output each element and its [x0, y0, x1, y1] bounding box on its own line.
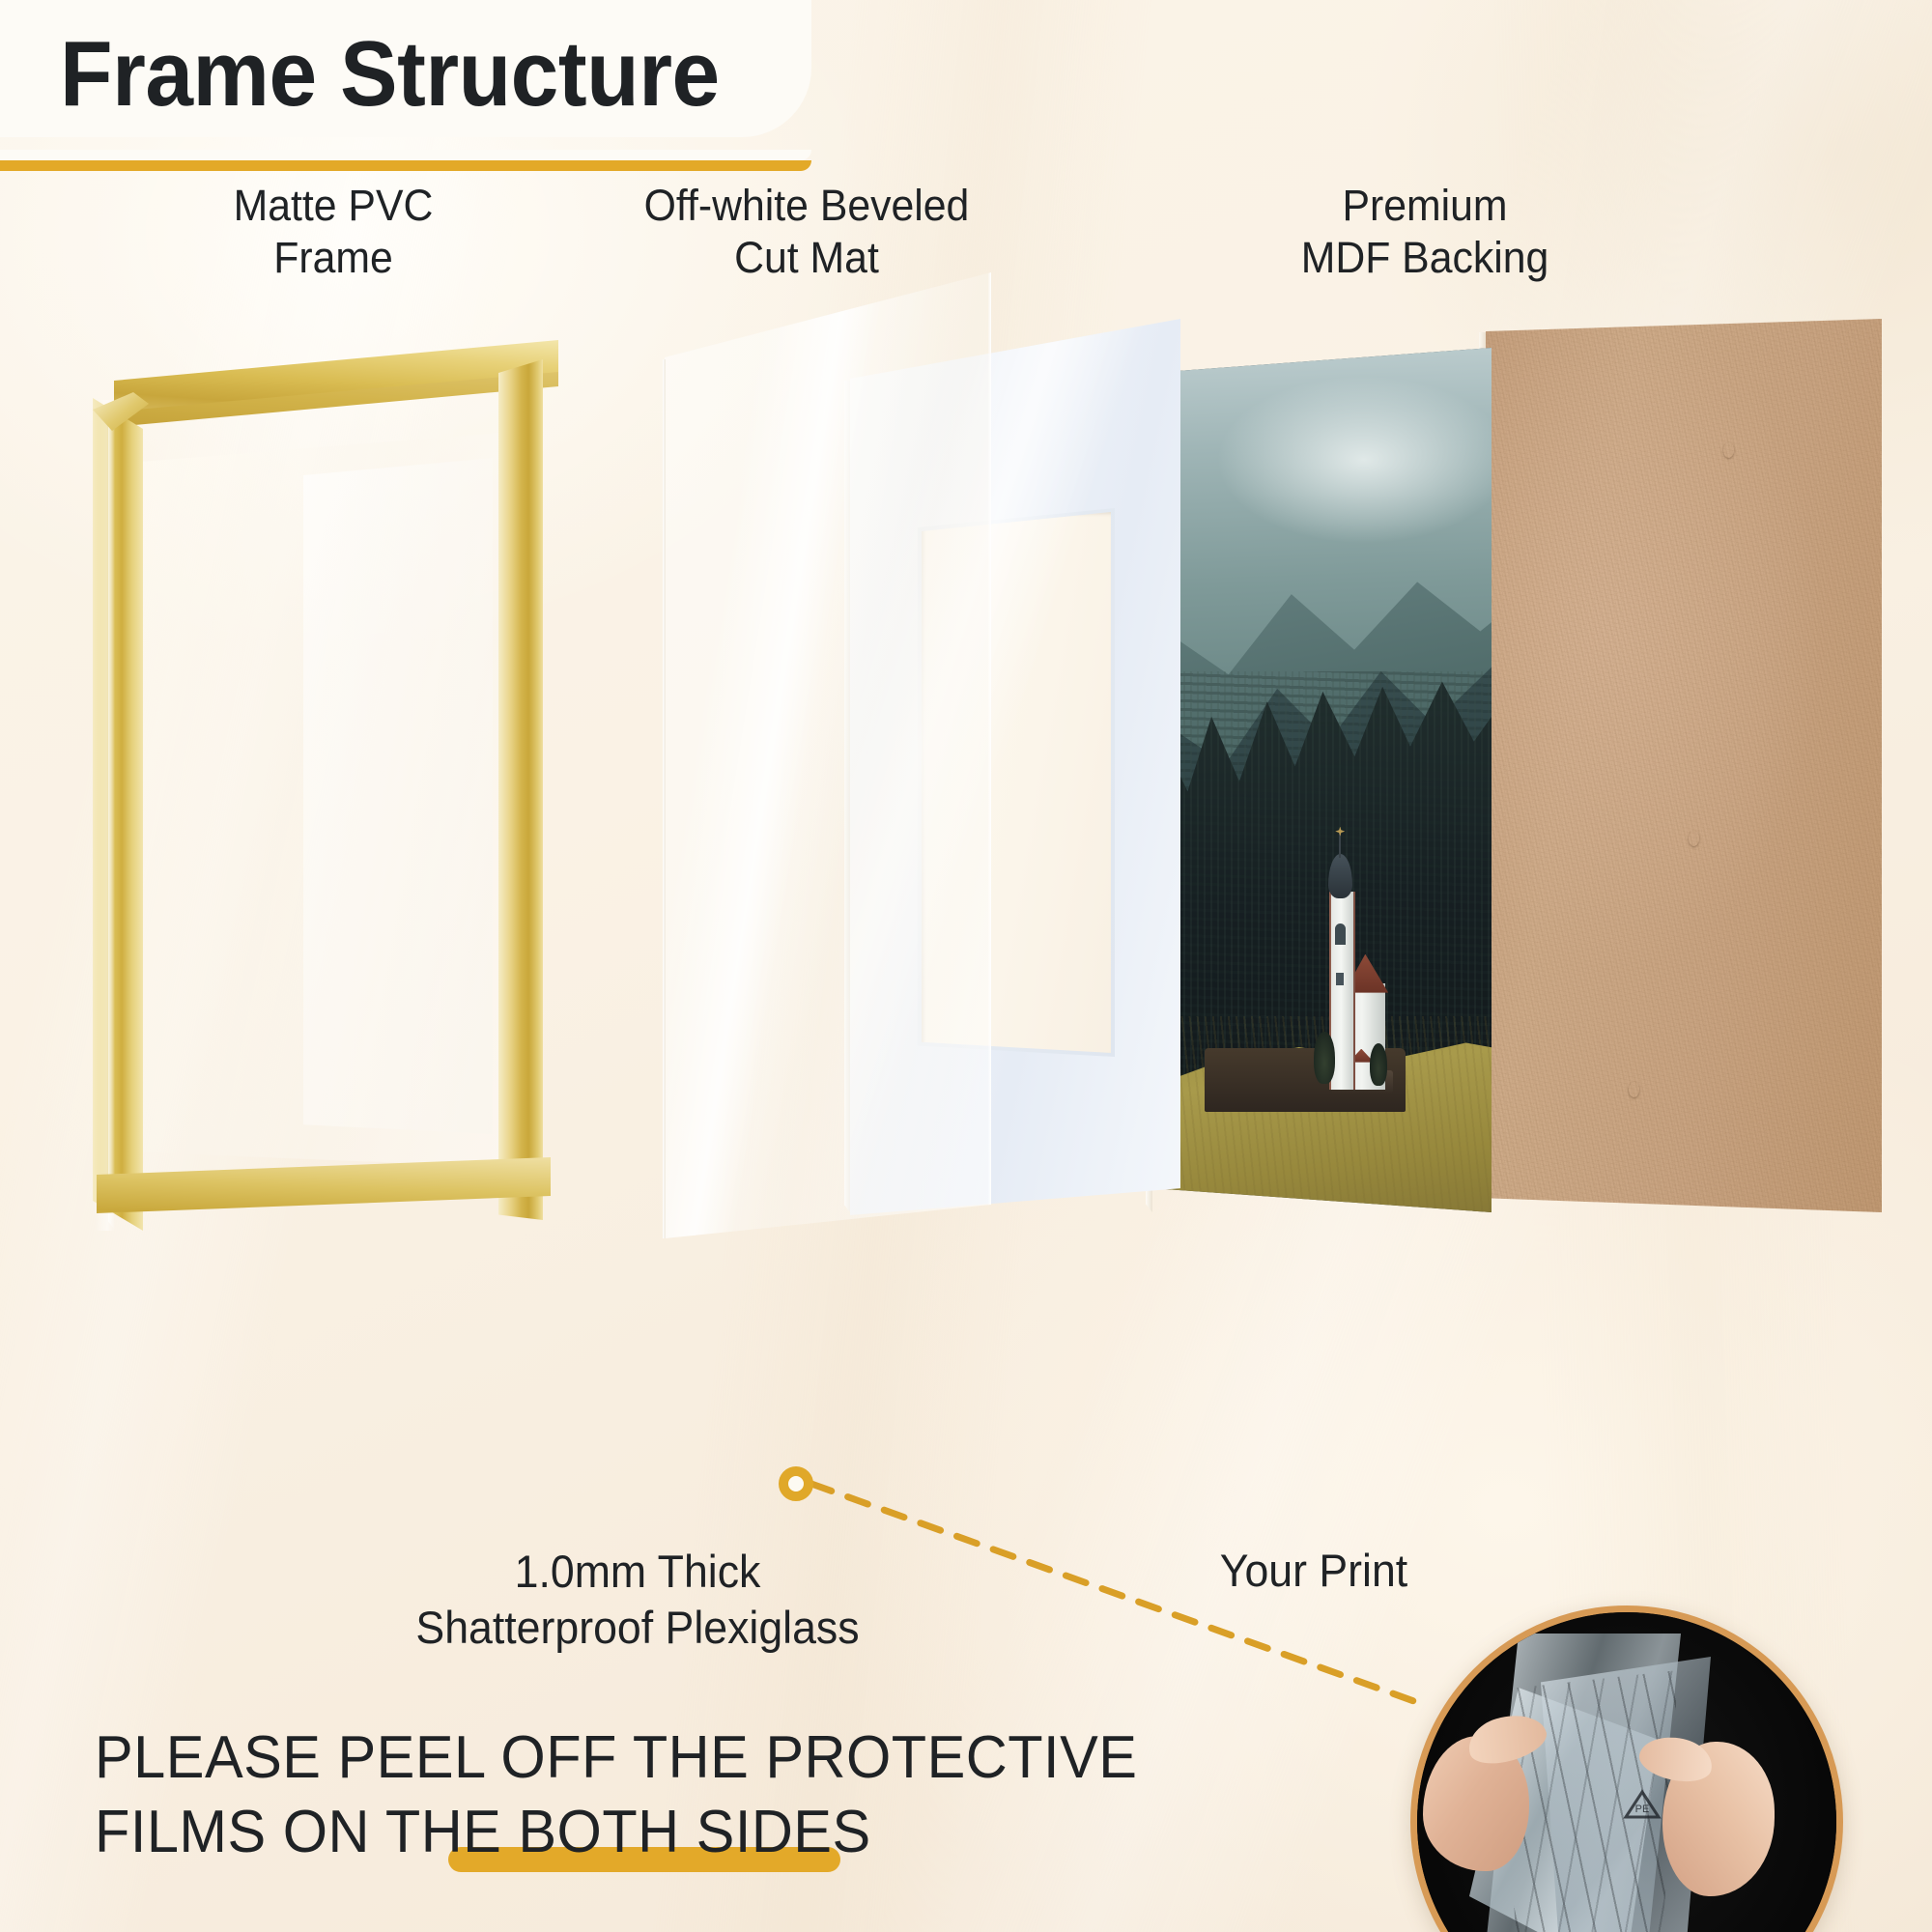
callout-marker-icon	[779, 1466, 813, 1501]
church-finial-icon	[1335, 827, 1345, 837]
label-cut-mat: Off-white Beveled Cut Mat	[578, 180, 1037, 284]
backing-hardware-clip	[1689, 831, 1699, 846]
scene-shrub	[1314, 1032, 1335, 1084]
warning-line-1: PLEASE PEEL OFF THE PROTECTIVE	[95, 1724, 1137, 1791]
label-mdf-backing: Premium MDF Backing	[1168, 180, 1682, 284]
gold-frame-profile	[114, 340, 558, 1209]
label-line-2: Cut Mat	[578, 232, 1037, 284]
plexiglass-panel	[665, 272, 991, 1238]
church-belfry-opening	[1335, 923, 1346, 945]
church-onion-dome	[1328, 854, 1352, 898]
infographic-canvas: Frame Structure Matte PVC Frame Off-whit…	[0, 0, 1932, 1932]
svg-text:PE: PE	[1635, 1804, 1650, 1815]
frame-bottom-rail	[97, 1157, 551, 1236]
scene-shrub	[1370, 1043, 1387, 1086]
plexiglass-left-edge	[663, 359, 666, 1238]
page-title: Frame Structure	[60, 21, 720, 128]
label-line-2: MDF Backing	[1168, 232, 1682, 284]
frame-left-highlight	[108, 404, 115, 1230]
frame-right-rail	[498, 336, 543, 1220]
label-line-1: Premium	[1168, 180, 1682, 232]
warning-text: PLEASE PEEL OFF THE PROTECTIVE FILMS ON …	[95, 1721, 1300, 1870]
backing-hardware-clip	[1629, 1082, 1639, 1097]
mdf-backing-panel	[1486, 319, 1882, 1212]
plexiglass-right-edge	[988, 272, 991, 1238]
peel-film-inset-photo: PE	[1410, 1605, 1843, 1932]
label-line-1: Matte PVC	[127, 180, 540, 232]
scene-mist	[1151, 363, 1492, 617]
print-photo-panel	[1151, 348, 1492, 1212]
title-accent-rule	[0, 160, 811, 171]
frame-left-sheen	[95, 400, 143, 1231]
callout-leader-line	[808, 1478, 1426, 1710]
mdf-grain-texture	[1486, 319, 1882, 1212]
recycle-triangle-icon: PE	[1622, 1788, 1662, 1821]
print-scene	[1151, 348, 1492, 1212]
label-line-1: Off-white Beveled	[578, 180, 1037, 232]
plexiglass-gloss	[665, 272, 991, 1238]
label-line-2: Frame	[127, 232, 540, 284]
frame-glass-reflection	[303, 458, 493, 1134]
label-matte-pvc-frame: Matte PVC Frame	[127, 180, 540, 284]
backing-hardware-clip	[1723, 442, 1734, 458]
scene-church	[1312, 829, 1385, 1090]
warning-line-2: FILMS ON THE BOTH SIDES	[95, 1796, 871, 1870]
church-window	[1336, 973, 1344, 985]
